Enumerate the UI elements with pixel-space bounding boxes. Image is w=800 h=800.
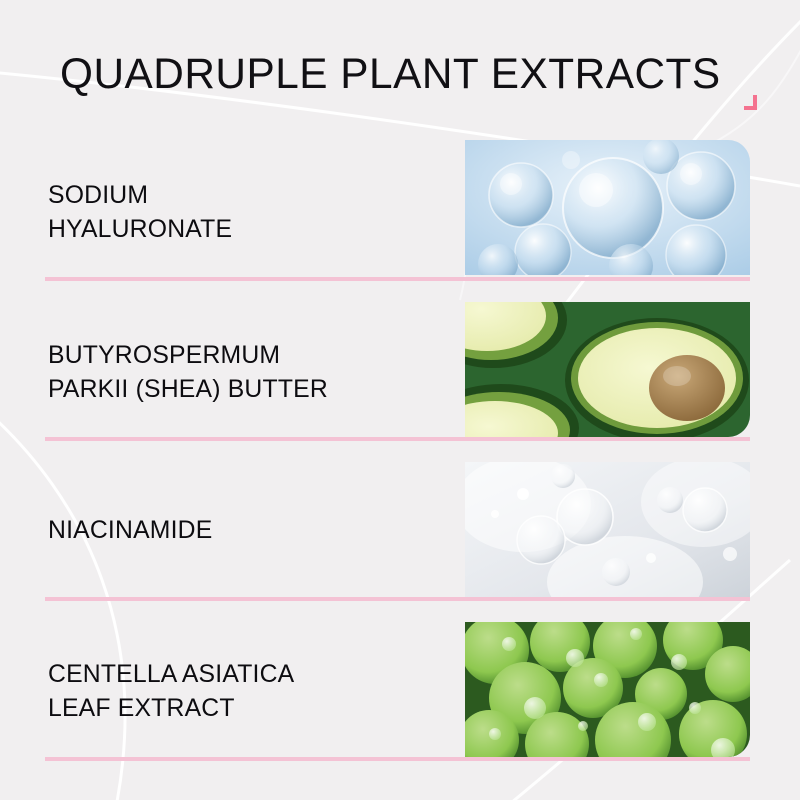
row-divider (45, 437, 750, 441)
ingredient-image-niacinamide (465, 462, 750, 597)
thumbnail-artwork (465, 140, 750, 275)
row-divider (45, 757, 750, 761)
ingredient-image-centella-asiatica-leaf-extract (465, 622, 750, 757)
row-divider (45, 277, 750, 281)
thumbnail-artwork (465, 622, 750, 757)
ingredient-label-butyrospermum-parkii-shea-butter: BUTYROSPERMUM PARKII (SHEA) BUTTER (48, 338, 328, 406)
ingredient-label-niacinamide: NIACINAMIDE (48, 513, 212, 547)
row-divider (45, 597, 750, 601)
page-title: QUADRUPLE PLANT EXTRACTS (60, 50, 721, 99)
ingredient-image-butyrospermum-parkii-shea-butter (465, 302, 750, 437)
pink-corner-bracket-icon (744, 95, 757, 110)
thumbnail-artwork (465, 462, 750, 597)
ingredient-label-centella-asiatica-leaf-extract: CENTELLA ASIATICA LEAF EXTRACT (48, 657, 294, 725)
ingredient-label-sodium-hyaluronate: SODIUM HYALURONATE (48, 178, 232, 246)
thumbnail-artwork (465, 302, 750, 437)
bracket-horizontal-stroke (744, 106, 757, 110)
ingredient-image-sodium-hyaluronate (465, 140, 750, 275)
product-ingredients-infographic: QUADRUPLE PLANT EXTRACTS (0, 0, 800, 800)
